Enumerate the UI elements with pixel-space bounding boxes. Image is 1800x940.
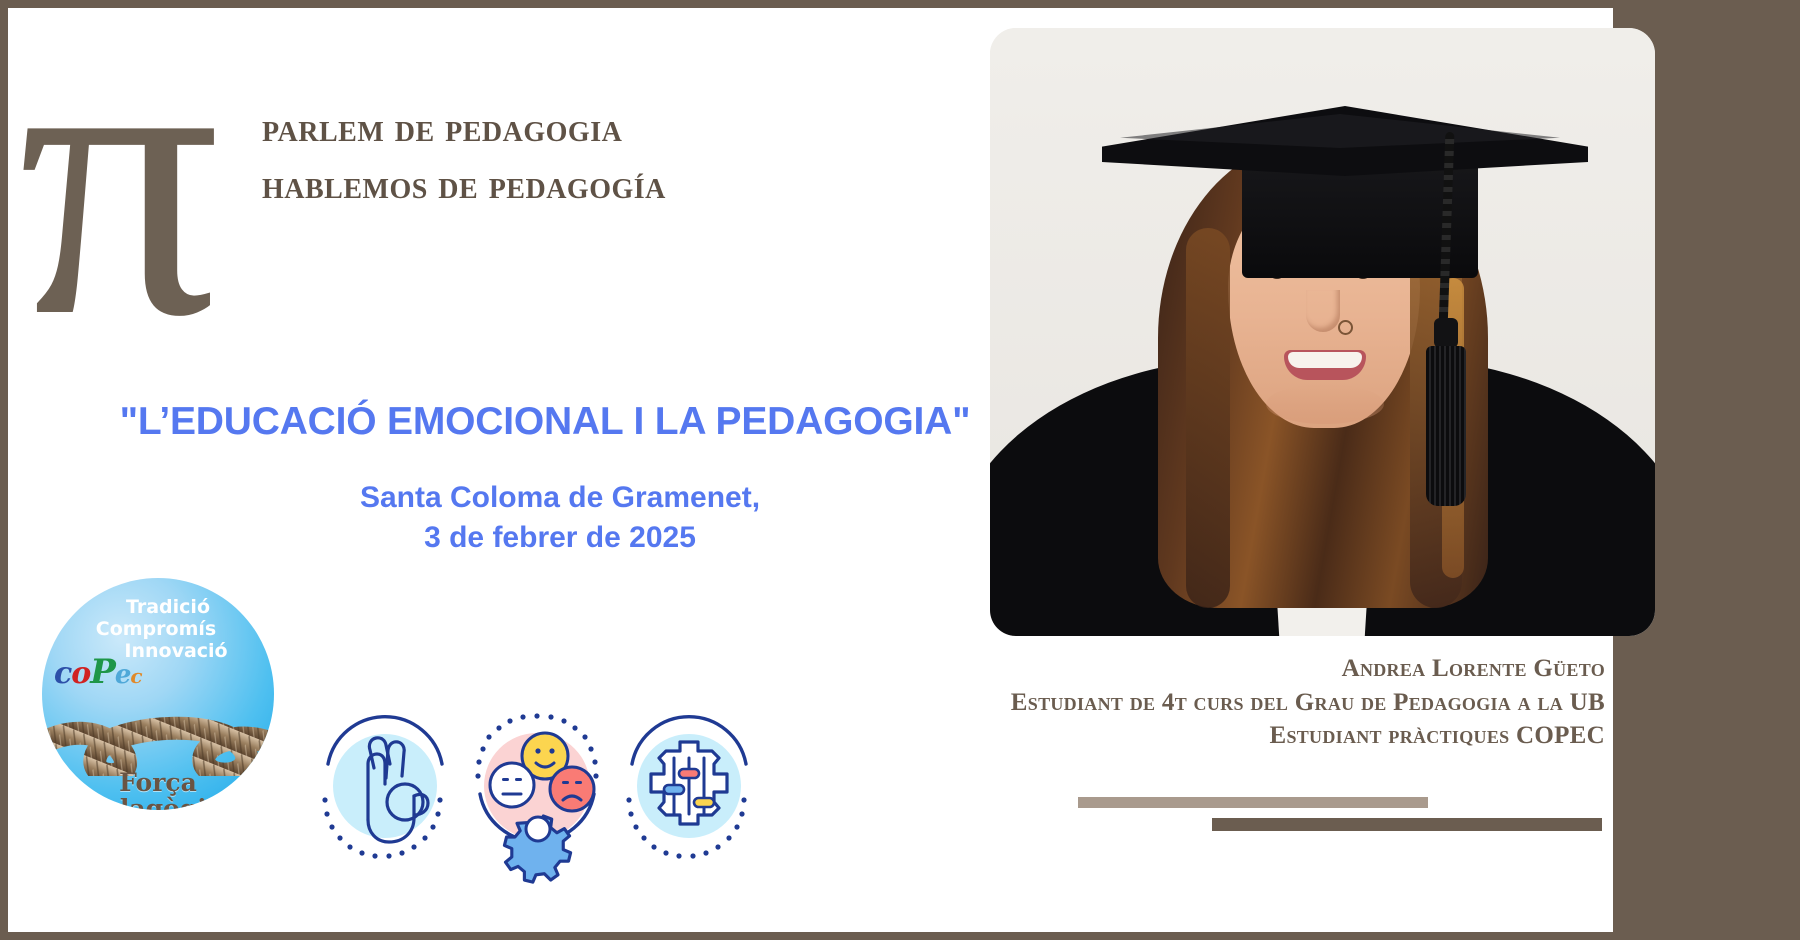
copec-slogan-line2: Compromís xyxy=(42,618,274,640)
pi-logo-glyph: π xyxy=(18,0,220,378)
speaker-photo xyxy=(990,28,1655,636)
tassel-fringe xyxy=(1426,346,1466,506)
copec-wordmark-c: c xyxy=(54,656,71,691)
icon-ok-hand xyxy=(310,672,460,902)
tassel-knot xyxy=(1434,318,1458,348)
brand-title-catalan: Parlem de Pedagogia xyxy=(262,100,1022,157)
copec-tagline-line2: Pedagògica xyxy=(42,796,274,810)
slide-canvas: π Parlem de Pedagogia Hablemos de Pedago… xyxy=(0,0,1800,940)
chin-shadow xyxy=(1266,384,1384,424)
brand-title-spanish: Hablemos de Pedagogía xyxy=(262,157,1022,214)
copec-logo: Tradició Compromís Innovació coPec xyxy=(42,578,274,810)
icon-settings-sliders xyxy=(614,672,764,902)
rope-knot-illustration xyxy=(42,690,274,776)
copec-wordmark: coPec xyxy=(54,652,184,694)
icon-emotions-gear xyxy=(462,672,612,902)
top-brown-edge xyxy=(0,0,1622,8)
nose-ring xyxy=(1338,320,1353,335)
hair-strand-left xyxy=(1186,228,1230,608)
copec-wordmark-e: e xyxy=(115,660,131,690)
talk-title: "L’EDUCACIÓ EMOCIONAL I LA PEDAGOGIA" xyxy=(0,400,1090,444)
copec-wordmark-o: o xyxy=(71,656,90,691)
copec-tagline: Força Pedagògica xyxy=(42,770,274,810)
decorative-bar-dark xyxy=(1212,818,1602,831)
copec-wordmark-c2: c xyxy=(130,664,141,688)
copec-wordmark-p: P xyxy=(90,652,115,692)
talk-meta: Santa Coloma de Gramenet, 3 de febrer de… xyxy=(240,478,880,558)
theme-icon-row xyxy=(310,672,780,902)
mouth xyxy=(1284,350,1366,380)
talk-date: 3 de febrer de 2025 xyxy=(240,518,880,558)
copec-slogan-line1: Tradició xyxy=(42,596,274,618)
brand-title-block: Parlem de Pedagogia Hablemos de Pedagogí… xyxy=(262,100,1022,214)
copec-tagline-line1: Força xyxy=(42,770,274,796)
nose xyxy=(1306,290,1340,332)
teeth xyxy=(1288,352,1362,368)
speaker-photo-card xyxy=(990,28,1655,636)
left-brown-edge xyxy=(0,0,8,940)
decorative-bar-light xyxy=(1078,797,1428,808)
talk-place: Santa Coloma de Gramenet, xyxy=(240,478,880,518)
